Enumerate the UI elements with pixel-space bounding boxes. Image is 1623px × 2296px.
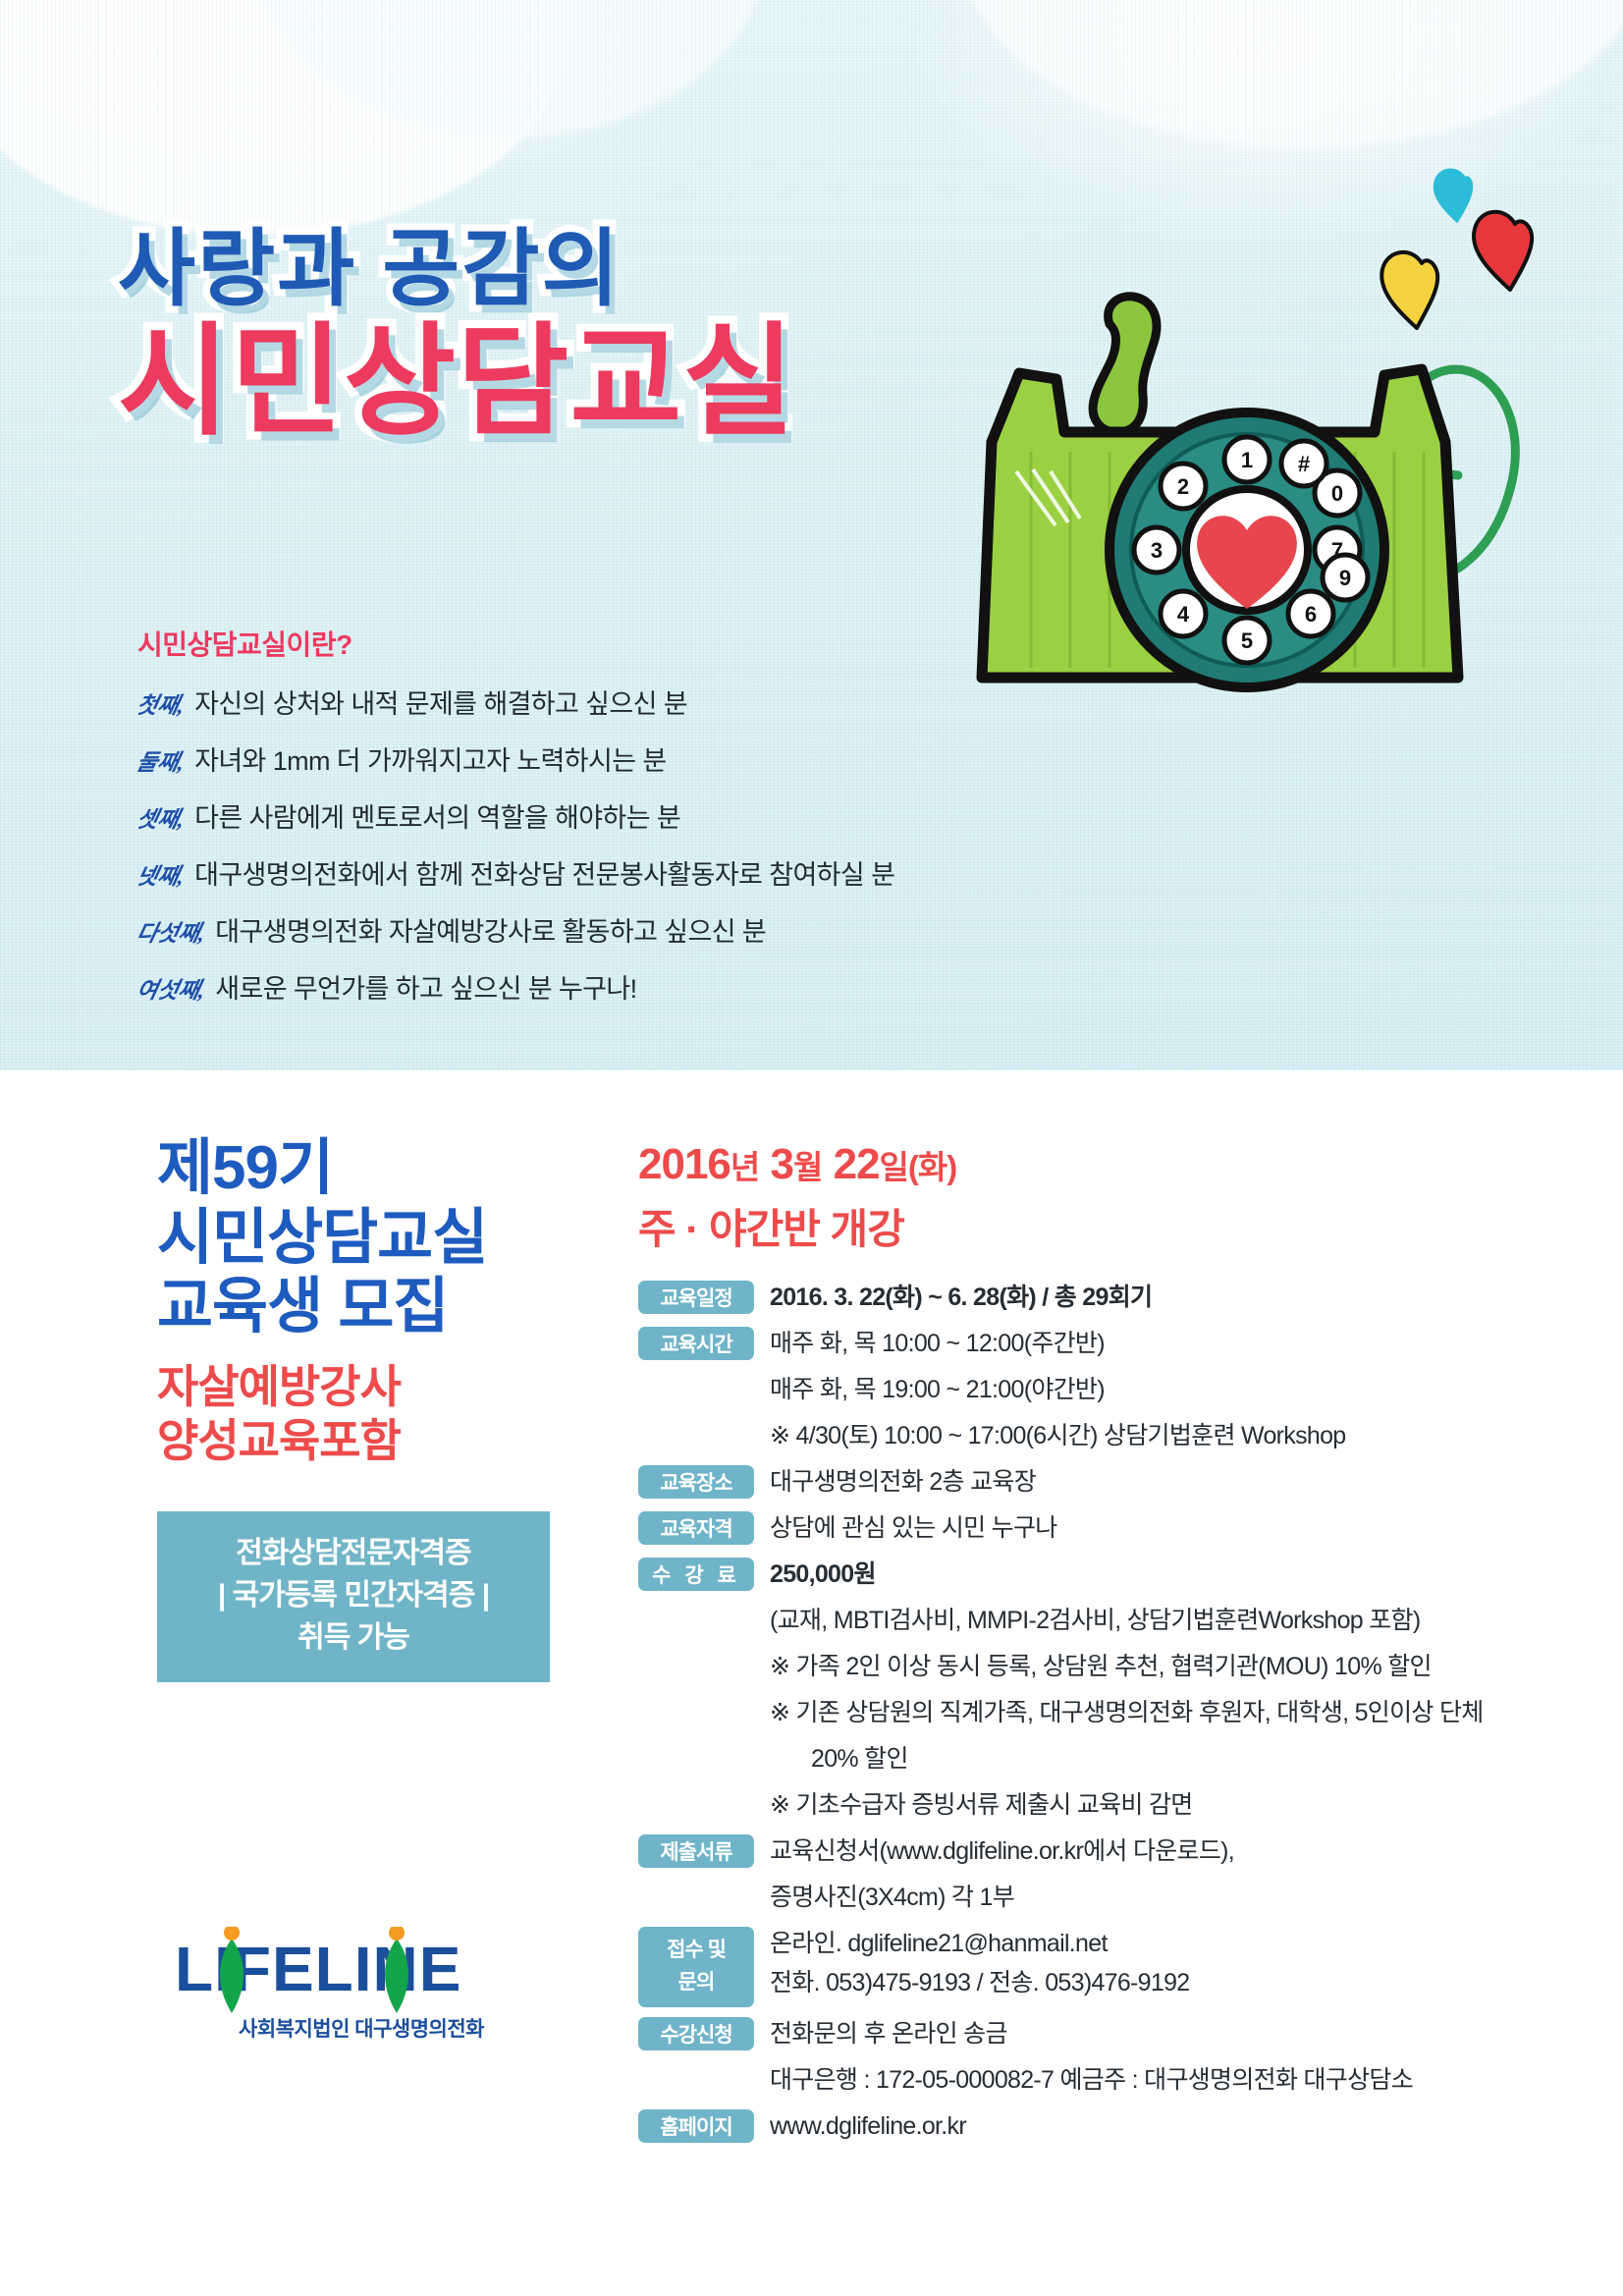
logo-leaf-icon [175,1927,548,2015]
intro-block: 시민상담교실이란? 첫째, 자신의 상처와 내적 문제를 해결하고 싶으신 분 … [137,624,1021,1024]
open-date-line: 2016년 3월 22일(화) [638,1139,1542,1190]
svg-text:5: 5 [1241,629,1253,653]
label-spacer [638,1647,754,1648]
detail-subrow-fee-note-2: ※ 가족 2인 이상 동시 등록, 상담원 추천, 협력기관(MOU) 10% … [638,1647,1542,1686]
intro-item-ordinal: 여섯째, [134,971,208,1005]
intro-item-text: 새로운 무언가를 하고 싶으신 분 누구나! [215,967,636,1006]
dial-hole-4: 4 [1161,591,1206,636]
rotary-dial: 1 2 3 4 5 6 7 0 9 # [1109,412,1384,687]
detail-row-time: 교육시간 매주 화, 목 10:00 ~ 12:00(주간반) [638,1324,1542,1363]
label-homepage: 홈페이지 [638,2109,754,2143]
open-date-month-unit: 월 [793,1149,822,1185]
value-place: 대구생명의전화 2층 교육장 [770,1462,1036,1502]
detail-subrow-time-3: ※ 4/30(토) 10:00 ~ 17:00(6시간) 상담기법훈련 Work… [638,1416,1542,1455]
intro-item: 여섯째, 새로운 무언가를 하고 싶으신 분 누구나! [137,967,1021,1006]
intro-item: 둘째, 자녀와 1mm 더 가까워지고자 노력하시는 분 [137,739,1021,778]
svg-text:2: 2 [1177,474,1189,499]
contact-values: 온라인. dglifeline21@hanmail.net 전화. 053)47… [770,1924,1190,2002]
headline-line-1: 사랑과 공감의 [118,226,795,313]
left-column: 제59기 시민상담교실 교육생 모집 자살예방강사 양성교육포함 전화상담전문자… [157,1134,579,1682]
course-title-line-1: 제59기 [157,1134,579,1204]
value-documents-1: 교육신청서(www.dglifeline.or.kr에서 다운로드), [770,1831,1234,1871]
logo-subtitle: 사회복지법인 대구생명의전화 [175,2013,548,2043]
svg-text:#: # [1298,452,1310,476]
heart-yellow-icon [1381,252,1437,328]
dial-hole-6: 6 [1288,591,1333,636]
svg-text:6: 6 [1305,602,1317,627]
label-spacer [638,1785,754,1786]
label-spacer [638,1370,754,1371]
value-fee-note-2: ※ 가족 2인 이상 동시 등록, 상담원 추천, 협력기관(MOU) 10% … [770,1647,1432,1686]
label-time: 교육시간 [638,1327,754,1360]
detail-row-eligibility: 교육자격 상담에 관심 있는 시민 누구나 [638,1508,1542,1548]
label-contact-line-2: 문의 [678,1967,715,1999]
open-date-day: 22 [834,1140,880,1188]
value-fee-note-4: 20% 할인 [811,1739,908,1778]
intro-item: 첫째, 자신의 상처와 내적 문제를 해결하고 싶으신 분 [137,683,1021,721]
value-fee-note-1: (교재, MBTI검사비, MMPI-2검사비, 상담기법훈련Workshop … [770,1601,1420,1640]
value-eligibility: 상담에 관심 있는 시민 누구나 [770,1508,1057,1548]
certificate-line-3: 취득 가능 [157,1617,550,1660]
course-subtitle: 자살예방강사 양성교육포함 [157,1360,579,1468]
intro-item-ordinal: 넷째, [134,857,188,891]
course-title-line-3: 교육생 모집 [157,1273,579,1342]
svg-text:1: 1 [1241,448,1253,472]
lifeline-logo: LIFELINE 사회복지법인 대구생명의전화 [175,1927,548,2043]
value-fee-note-5: ※ 기초수급자 증빙서류 제출시 교육비 감면 [770,1785,1193,1825]
heart-cyan-icon [1434,170,1471,221]
certificate-badge: 전화상담전문자격증 | 국가등록 민간자격증 | 취득 가능 [157,1511,550,1682]
open-date-year-unit: 년 [730,1149,759,1185]
dial-hole-3: 3 [1134,527,1179,573]
value-time-3: ※ 4/30(토) 10:00 ~ 17:00(6시간) 상담기법훈련 Work… [770,1416,1346,1455]
value-contact-email: 온라인. dglifeline21@hanmail.net [770,1924,1190,1963]
intro-item: 넷째, 대구생명의전화에서 함께 전화상담 전문봉사활동자로 참여하실 분 [137,853,1021,892]
dial-hole-2: 2 [1161,464,1206,509]
value-documents-2: 증명사진(3X4cm) 각 1부 [770,1878,1014,1917]
course-title-line-2: 시민상담교실 [157,1204,579,1274]
headline-line-2: 시민상담교실 [118,319,795,446]
dial-hole-5: 5 [1224,618,1270,663]
detail-rows: 교육일정 2016. 3. 22(화) ~ 6. 28(화) / 총 29회기 … [638,1278,1542,2146]
cloud-shape-3 [962,0,1623,147]
label-contact: 접수 및 문의 [638,1927,754,2007]
detail-row-fee: 수 강 료 250,000원 [638,1555,1542,1594]
intro-item-ordinal: 첫째, [134,686,188,720]
course-subtitle-line-1: 자살예방강사 [157,1360,579,1414]
heart-red-icon [1474,212,1532,290]
logo-wordmark: LIFELINE [175,1927,548,2011]
poster-root: 사랑과 공감의 시민상담교실 [0,0,1623,2296]
value-fee-amount: 250,000원 [770,1555,876,1594]
dial-hole-1: 1 [1224,437,1270,482]
svg-text:9: 9 [1339,566,1351,590]
intro-item-text: 대구생명의전화에서 함께 전화상담 전문봉사활동자로 참여하실 분 [194,853,894,892]
logo-dot-orange-2 [389,1927,405,1941]
label-spacer [638,1416,754,1417]
detail-row-schedule: 교육일정 2016. 3. 22(화) ~ 6. 28(화) / 총 29회기 [638,1278,1542,1317]
detail-subrow-apply-2: 대구은행 : 172-05-000082-7 예금주 : 대구생명의전화 대구상… [638,2060,1542,2100]
open-date-year: 2016 [638,1140,730,1188]
intro-item-text: 다른 사람에게 멘토로서의 역할을 해야하는 분 [194,796,680,835]
intro-item-ordinal: 둘째, [134,743,188,777]
label-fee: 수 강 료 [638,1558,754,1591]
right-column: 2016년 3월 22일(화) 주 · 야간반 개강 교육일정 2016. 3.… [638,1139,1542,2153]
value-contact-phone: 전화. 053)475-9193 / 전송. 053)476-9192 [770,1963,1190,2002]
open-date-month: 3 [771,1140,793,1188]
label-spacer [638,2060,754,2061]
certificate-line-2: | 국가등록 민간자격증 | [157,1575,550,1617]
detail-subrow-documents-2: 증명사진(3X4cm) 각 1부 [638,1878,1542,1917]
phone-handset [1093,297,1157,432]
value-fee-note-3: ※ 기존 상담원의 직계가족, 대구생명의전화 후원자, 대학생, 5인이상 단… [770,1693,1484,1732]
detail-row-documents: 제출서류 교육신청서(www.dglifeline.or.kr에서 다운로드), [638,1831,1542,1871]
value-schedule: 2016. 3. 22(화) ~ 6. 28(화) / 총 29회기 [770,1278,1152,1317]
intro-item-ordinal: 다섯째, [134,914,208,948]
detail-subrow-fee-note-3: ※ 기존 상담원의 직계가족, 대구생명의전화 후원자, 대학생, 5인이상 단… [638,1693,1542,1732]
dial-hole-9: 9 [1323,555,1368,600]
telephone-svg: 1 2 3 4 5 6 7 0 9 # [962,147,1591,717]
intro-item-text: 대구생명의전화 자살예방강사로 활동하고 싶으신 분 [215,910,766,949]
intro-title: 시민상담교실이란? [137,624,1021,663]
label-place: 교육장소 [638,1465,754,1499]
label-spacer [638,1601,754,1602]
svg-text:4: 4 [1177,602,1190,627]
detail-row-apply: 수강신청 전화문의 후 온라인 송금 [638,2014,1542,2053]
course-title: 제59기 시민상담교실 교육생 모집 [157,1134,579,1342]
value-apply-2: 대구은행 : 172-05-000082-7 예금주 : 대구생명의전화 대구상… [770,2060,1413,2100]
intro-item: 셋째, 다른 사람에게 멘토로서의 역할을 해야하는 분 [137,796,1021,835]
detail-row-contact: 접수 및 문의 온라인. dglifeline21@hanmail.net 전화… [638,1924,1542,2007]
label-eligibility: 교육자격 [638,1511,754,1545]
intro-item-text: 자신의 상처와 내적 문제를 해결하고 싶으신 분 [194,683,687,721]
open-date-day-unit: 일(화) [880,1149,957,1185]
value-time-1: 매주 화, 목 10:00 ~ 12:00(주간반) [770,1324,1105,1363]
poster-headline: 사랑과 공감의 시민상담교실 [118,226,795,446]
label-spacer [638,1878,754,1879]
svg-text:3: 3 [1151,538,1163,563]
dial-hole-hash: # [1281,441,1326,486]
open-class-line: 주 · 야간반 개강 [638,1196,1542,1256]
detail-subrow-fee-note-5: ※ 기초수급자 증빙서류 제출시 교육비 감면 [638,1785,1542,1825]
detail-subrow-time-2: 매주 화, 목 19:00 ~ 21:00(야간반) [638,1370,1542,1409]
label-documents: 제출서류 [638,1834,754,1868]
label-apply: 수강신청 [638,2017,754,2050]
telephone-illustration: 1 2 3 4 5 6 7 0 9 # [962,147,1591,717]
intro-item-ordinal: 셋째, [134,800,188,834]
value-time-2: 매주 화, 목 19:00 ~ 21:00(야간반) [770,1370,1105,1409]
label-schedule: 교육일정 [638,1281,754,1314]
detail-row-place: 교육장소 대구생명의전화 2층 교육장 [638,1462,1542,1502]
label-spacer [638,1693,754,1694]
logo-dot-orange-1 [224,1927,240,1941]
value-homepage[interactable]: www.dglifeline.or.kr [770,2106,966,2146]
svg-text:0: 0 [1331,481,1343,506]
detail-subrow-fee-note-4: 20% 할인 [638,1739,1542,1778]
label-contact-line-1: 접수 및 [667,1935,726,1967]
certificate-line-1: 전화상담전문자격증 [157,1533,550,1575]
intro-item-text: 자녀와 1mm 더 가까워지고자 노력하시는 분 [194,739,667,778]
intro-item: 다섯째, 대구생명의전화 자살예방강사로 활동하고 싶으신 분 [137,910,1021,949]
detail-subrow-fee-note-1: (교재, MBTI검사비, MMPI-2검사비, 상담기법훈련Workshop … [638,1601,1542,1640]
label-spacer [638,1739,754,1740]
detail-row-homepage: 홈페이지 www.dglifeline.or.kr [638,2106,1542,2146]
value-apply-1: 전화문의 후 온라인 송금 [770,2014,1007,2053]
course-subtitle-line-2: 양성교육포함 [157,1414,579,1468]
